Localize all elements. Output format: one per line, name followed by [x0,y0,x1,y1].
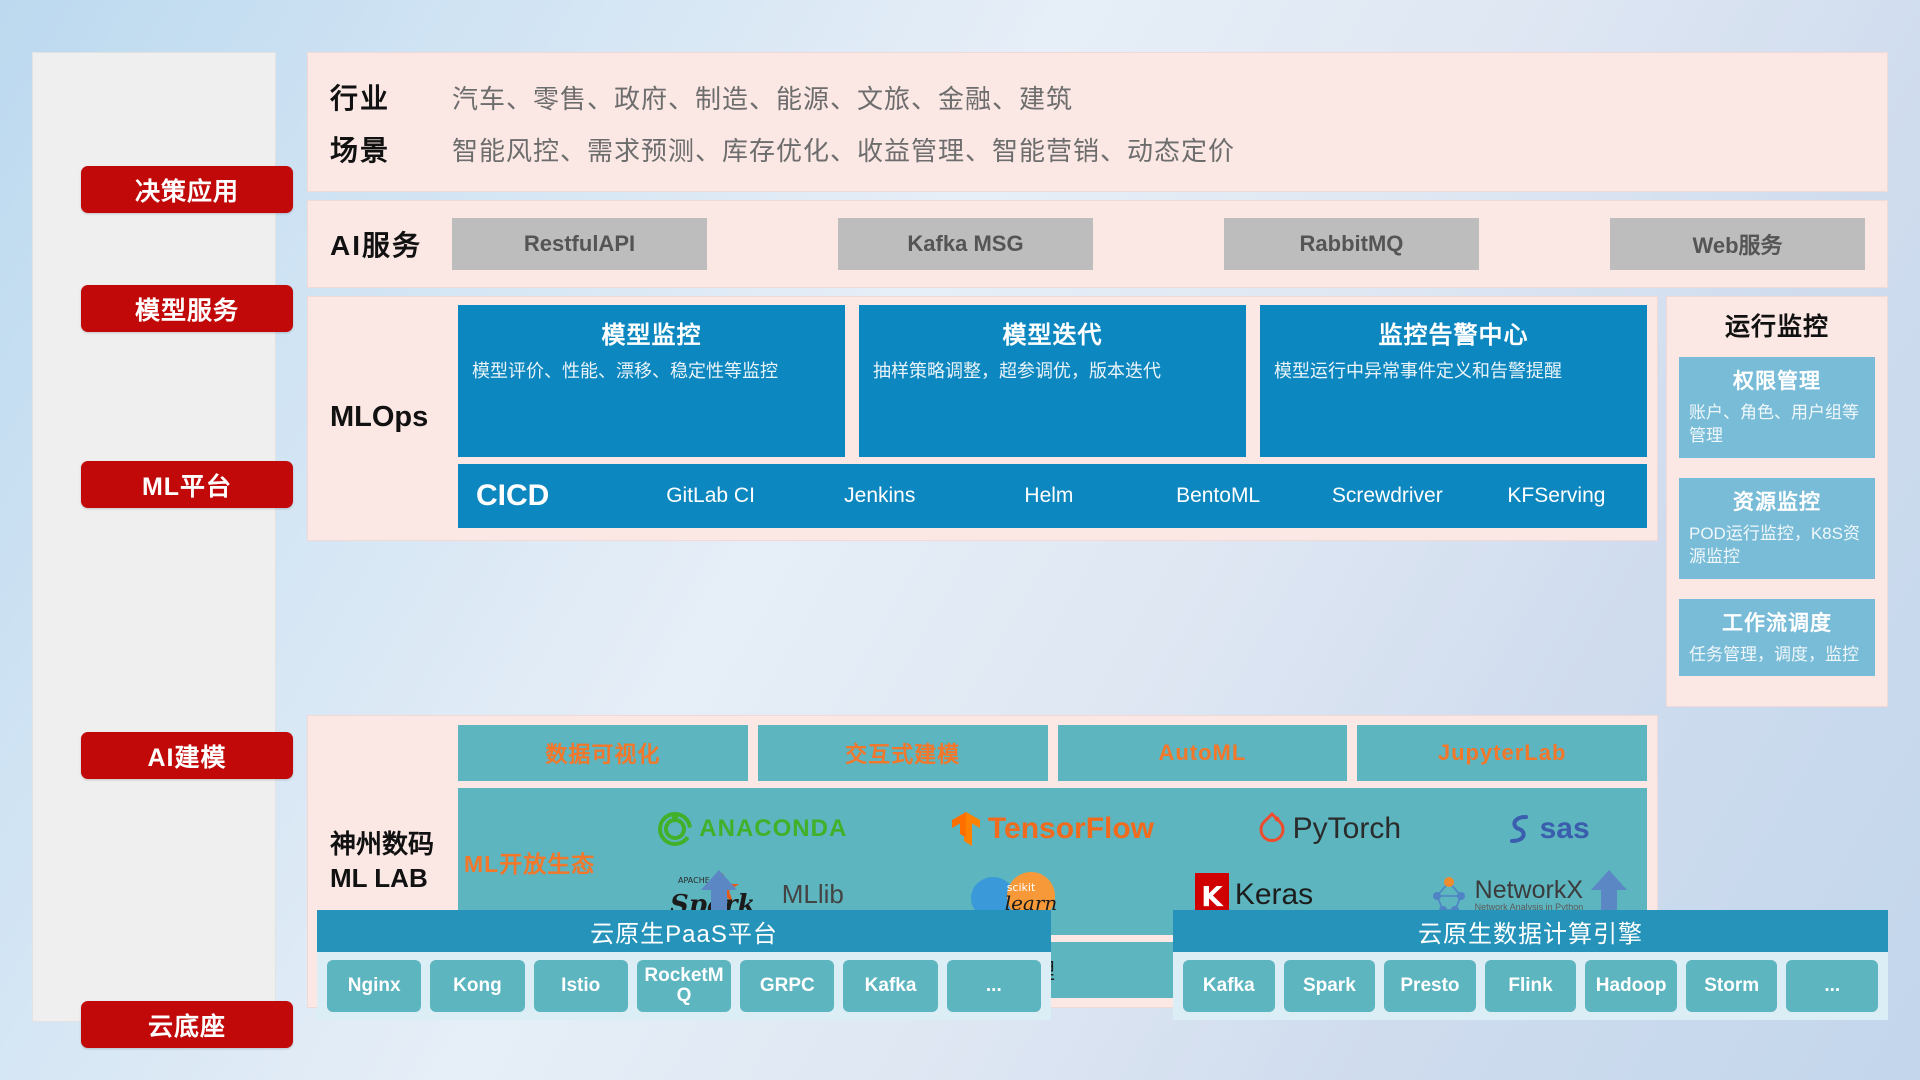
anaconda-logo-text: ANACONDA [699,815,847,843]
monitor-card-desc: 任务管理，调度，监控 [1689,643,1865,666]
mlops-card-model-iteration[interactable]: 模型迭代 抽样策略调整，超参调优，版本迭代 [859,305,1246,457]
monitor-card-title: 资源监控 [1689,486,1865,516]
paas-chip-rocketmq[interactable]: RocketMQ [637,960,731,1012]
paas-chip-kong[interactable]: Kong [430,960,524,1012]
engine-title: 云原生数据计算引擎 [1173,910,1888,952]
ai-service-label: AI服务 [330,224,452,264]
cicd-bar: CICD GitLab CI Jenkins Helm BentoML Scre… [458,464,1647,528]
band-mlops: MLOps 模型监控 模型评价、性能、漂移、稳定性等监控 模型迭代 抽样策略调整… [307,296,1658,541]
cloud-native-paas-platform: 云原生PaaS平台 Nginx Kong Istio RocketMQ GRPC… [317,910,1051,1020]
paas-chip-more[interactable]: ... [947,960,1041,1012]
rail-item-cloud-base[interactable]: 云底座 [81,1001,293,1048]
engine-chip-hadoop[interactable]: Hadoop [1585,960,1677,1012]
anaconda-logo: ANACONDA [657,811,847,847]
ai-service-chip-web-service[interactable]: Web服务 [1610,218,1865,270]
mlops-card-alert-center[interactable]: 监控告警中心 模型运行中异常事件定义和告警提醒 [1260,305,1647,457]
mlops-card-desc: 模型运行中异常事件定义和告警提醒 [1274,359,1633,385]
monitor-card-title: 权限管理 [1689,365,1865,395]
engine-chip-more[interactable]: ... [1786,960,1878,1012]
rail-item-decision-app[interactable]: 决策应用 [81,166,293,213]
pytorch-logo: PyTorch [1257,811,1401,847]
engine-chip-list: Kafka Spark Presto Flink Hadoop Storm ..… [1173,952,1888,1020]
runtime-monitor-title: 运行监控 [1679,307,1875,343]
scenario-row: 场景 智能风控、需求预测、库存优化、收益管理、智能营销、动态定价 [330,123,1865,175]
ai-service-chip-kafka-msg[interactable]: Kafka MSG [838,218,1093,270]
up-arrow-paas-icon [697,868,741,912]
ai-service-chip-restfulapi[interactable]: RestfulAPI [452,218,707,270]
mlops-card-list: 模型监控 模型评价、性能、漂移、稳定性等监控 模型迭代 抽样策略调整，超参调优，… [458,305,1647,457]
mlops-card-title: 模型监控 [472,315,831,350]
tab-data-visualization[interactable]: 数据可视化 [458,725,748,781]
scenario-label: 场景 [330,129,452,169]
ai-service-chip-list: RestfulAPI Kafka MSG RabbitMQ Web服务 [452,218,1865,270]
cicd-label: CICD [476,479,626,513]
mlops-card-desc: 模型评价、性能、漂移、稳定性等监控 [472,359,831,385]
cloud-native-data-compute-engine: 云原生数据计算引擎 Kafka Spark Presto Flink Hadoo… [1173,910,1888,1020]
row-ml-platform: MLOps 模型监控 模型评价、性能、漂移、稳定性等监控 模型迭代 抽样策略调整… [307,296,1888,707]
pytorch-logo-text: PyTorch [1293,812,1401,846]
tab-automl[interactable]: AutoML [1058,725,1348,781]
scenario-value: 智能风控、需求预测、库存优化、收益管理、智能营销、动态定价 [452,131,1235,168]
ml-logo-row-1: ANACONDA TensorFlow [606,798,1641,860]
cicd-item-jenkins[interactable]: Jenkins [795,485,964,507]
mlops-card-title: 模型迭代 [873,315,1232,350]
band-cloud-base: 云原生PaaS平台 Nginx Kong Istio RocketMQ GRPC… [307,868,1888,1022]
monitor-card-workflow[interactable]: 工作流调度 任务管理，调度，监控 [1679,599,1875,676]
architecture-diagram: 决策应用 模型服务 ML平台 AI建模 云底座 行业 汽车、零售、政府、制造、能… [0,0,1920,1080]
band-decision-applications: 行业 汽车、零售、政府、制造、能源、文旅、金融、建筑 场景 智能风控、需求预测、… [307,52,1888,192]
cicd-item-gitlab-ci[interactable]: GitLab CI [626,485,795,507]
mlops-label: MLOps [330,305,458,530]
tab-jupyterlab[interactable]: JupyterLab [1357,725,1647,781]
band-ai-service: AI服务 RestfulAPI Kafka MSG RabbitMQ Web服务 [307,200,1888,288]
mlops-content: 模型监控 模型评价、性能、漂移、稳定性等监控 模型迭代 抽样策略调整，超参调优，… [458,305,1647,530]
industry-value: 汽车、零售、政府、制造、能源、文旅、金融、建筑 [452,79,1073,116]
mlops-card-model-monitoring[interactable]: 模型监控 模型评价、性能、漂移、稳定性等监控 [458,305,845,457]
ai-service-chip-rabbitmq[interactable]: RabbitMQ [1224,218,1479,270]
paas-chip-nginx[interactable]: Nginx [327,960,421,1012]
cicd-item-kfserving[interactable]: KFServing [1472,485,1641,507]
tab-interactive-modeling[interactable]: 交互式建模 [758,725,1048,781]
engine-chip-flink[interactable]: Flink [1485,960,1577,1012]
paas-chip-list: Nginx Kong Istio RocketMQ GRPC Kafka ... [317,952,1051,1020]
monitor-card-resource[interactable]: 资源监控 POD运行监控，K8S资源监控 [1679,478,1875,579]
rail-item-ml-platform[interactable]: ML平台 [81,461,293,508]
paas-title: 云原生PaaS平台 [317,910,1051,952]
cicd-item-helm[interactable]: Helm [964,485,1133,507]
engine-chip-kafka[interactable]: Kafka [1183,960,1275,1012]
cicd-item-bentoml[interactable]: BentoML [1134,485,1303,507]
ml-lab-tab-list: 数据可视化 交互式建模 AutoML JupyterLab [458,725,1647,781]
sas-logo-text: sas [1540,812,1590,846]
monitor-card-permission[interactable]: 权限管理 账户、角色、用户组等管理 [1679,357,1875,458]
up-arrow-engine-icon [1587,868,1631,912]
cicd-item-screwdriver[interactable]: Screwdriver [1303,485,1472,507]
ml-lab-label-line1: 神州数码 [330,828,458,862]
paas-chip-istio[interactable]: Istio [534,960,628,1012]
band-runtime-monitor: 运行监控 权限管理 账户、角色、用户组等管理 资源监控 POD运行监控，K8S资… [1666,296,1888,707]
industry-row: 行业 汽车、零售、政府、制造、能源、文旅、金融、建筑 [330,71,1865,123]
industry-label: 行业 [330,77,452,117]
monitor-card-desc: POD运行监控，K8S资源监控 [1689,522,1865,569]
main-stack: 行业 汽车、零售、政府、制造、能源、文旅、金融、建筑 场景 智能风控、需求预测、… [307,52,1888,1008]
layer-rail: 决策应用 模型服务 ML平台 AI建模 云底座 [32,52,276,1022]
tensorflow-logo-text: TensorFlow [988,812,1154,846]
rail-item-ai-modeling[interactable]: AI建模 [81,732,293,779]
mlops-card-desc: 抽样策略调整，超参调优，版本迭代 [873,359,1232,385]
rail-item-model-service[interactable]: 模型服务 [81,285,293,332]
monitor-card-title: 工作流调度 [1689,607,1865,637]
tensorflow-logo: TensorFlow [950,810,1154,848]
mlops-card-title: 监控告警中心 [1274,315,1633,350]
sas-logo: sas [1504,812,1590,846]
engine-chip-presto[interactable]: Presto [1384,960,1476,1012]
monitor-card-desc: 账户、角色、用户组等管理 [1689,401,1865,448]
cicd-item-list: GitLab CI Jenkins Helm BentoML Screwdriv… [626,485,1641,507]
paas-chip-grpc[interactable]: GRPC [740,960,834,1012]
paas-chip-kafka[interactable]: Kafka [843,960,937,1012]
engine-chip-storm[interactable]: Storm [1686,960,1778,1012]
engine-chip-spark[interactable]: Spark [1284,960,1376,1012]
